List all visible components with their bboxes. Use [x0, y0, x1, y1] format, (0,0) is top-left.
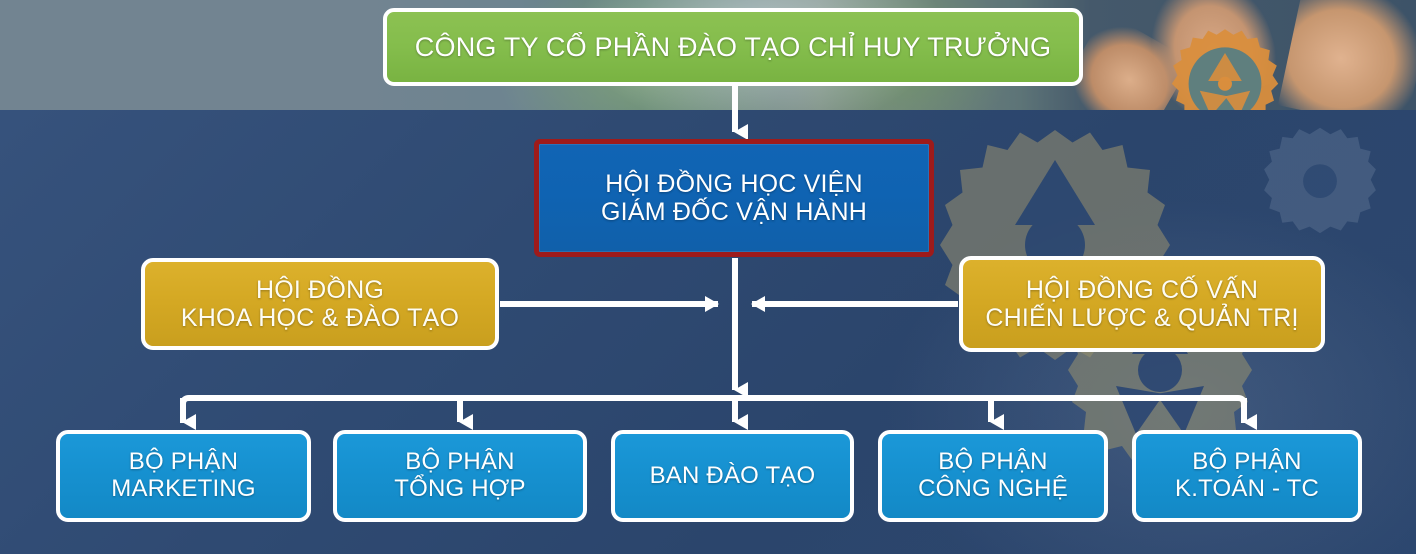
- node-department-accounting[interactable]: BỘ PHẬN K.TOÁN - TC: [1132, 430, 1362, 522]
- node-department-general[interactable]: BỘ PHẬN TỔNG HỢP: [333, 430, 587, 522]
- node-department-training[interactable]: BAN ĐÀO TẠO: [611, 430, 854, 522]
- gear-icon: [1255, 120, 1385, 250]
- node-department-marketing[interactable]: BỘ PHẬN MARKETING: [56, 430, 311, 522]
- node-advisor-strategy-governance[interactable]: HỘI ĐỒNG CỐ VẤN CHIẾN LƯỢC & QUẢN TRỊ: [959, 256, 1325, 352]
- node-academy-council[interactable]: HỘI ĐỒNG HỌC VIỆN GIÁM ĐỐC VẬN HÀNH: [534, 139, 934, 257]
- node-advisor-science-training[interactable]: HỘI ĐỒNG KHOA HỌC & ĐÀO TẠO: [141, 258, 499, 350]
- org-chart-canvas: CÔNG TY CỔ PHẦN ĐÀO TẠO CHỈ HUY TRƯỞNG H…: [0, 0, 1416, 554]
- node-department-technology[interactable]: BỘ PHẬN CÔNG NGHỆ: [878, 430, 1108, 522]
- node-company-root[interactable]: CÔNG TY CỔ PHẦN ĐÀO TẠO CHỈ HUY TRƯỞNG: [383, 8, 1083, 86]
